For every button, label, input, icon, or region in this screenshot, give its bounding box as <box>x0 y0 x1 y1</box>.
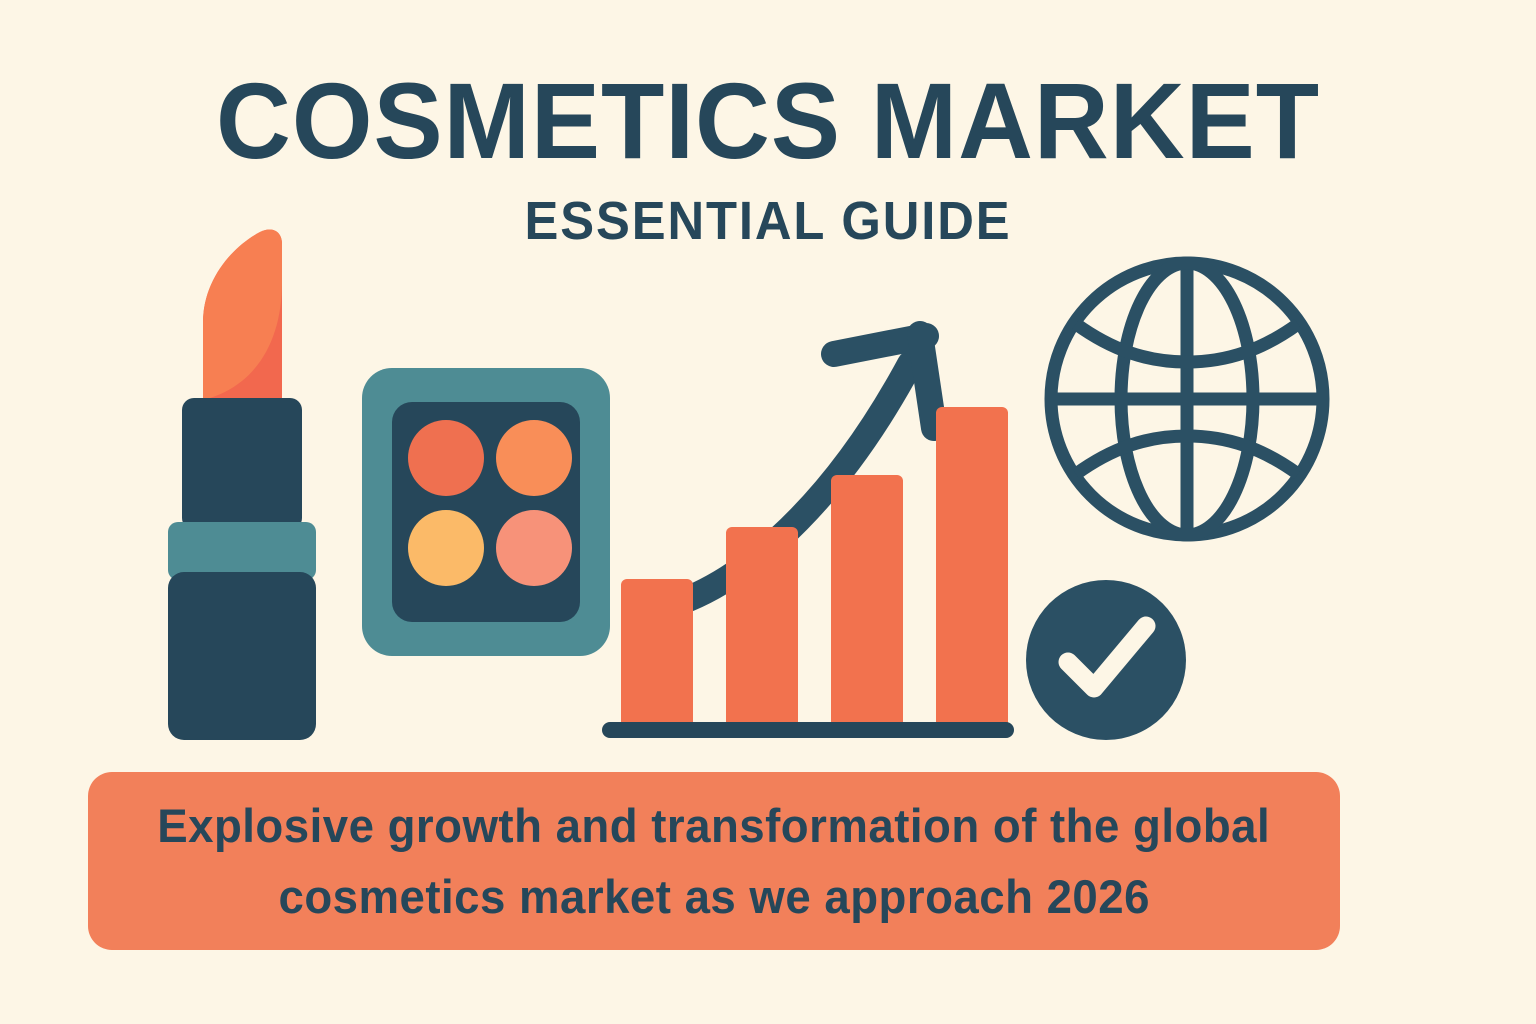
palette-tray <box>392 402 580 622</box>
check-circle-icon <box>1022 576 1190 744</box>
arrow-head-side <box>920 334 934 428</box>
chart-bar <box>936 407 1008 723</box>
chart-bar <box>831 475 903 723</box>
infographic-poster: COSMETICS MARKET ESSENTIAL GUIDE <box>0 0 1536 1024</box>
eyeshadow-palette-icon <box>362 368 610 656</box>
banner-line-1: Explosive growth and transformation of t… <box>158 790 1271 861</box>
globe-icon <box>1042 254 1332 544</box>
summary-banner: Explosive growth and transformation of t… <box>88 772 1340 950</box>
banner-line-2: cosmetics market as we approach 2026 <box>278 861 1149 932</box>
palette-pan <box>408 420 484 496</box>
page-title: COSMETICS MARKET <box>31 66 1506 176</box>
chart-baseline <box>602 722 1014 738</box>
palette-pan <box>408 510 484 586</box>
palette-pan <box>496 510 572 586</box>
lipstick-upper-tube <box>182 398 302 530</box>
chart-bar <box>726 527 798 723</box>
palette-pan <box>496 420 572 496</box>
chart-bar <box>621 579 693 723</box>
lipstick-base <box>168 572 316 740</box>
lipstick-icon <box>160 222 340 744</box>
growth-bar-chart <box>598 310 1018 746</box>
lipstick-band <box>168 522 316 580</box>
